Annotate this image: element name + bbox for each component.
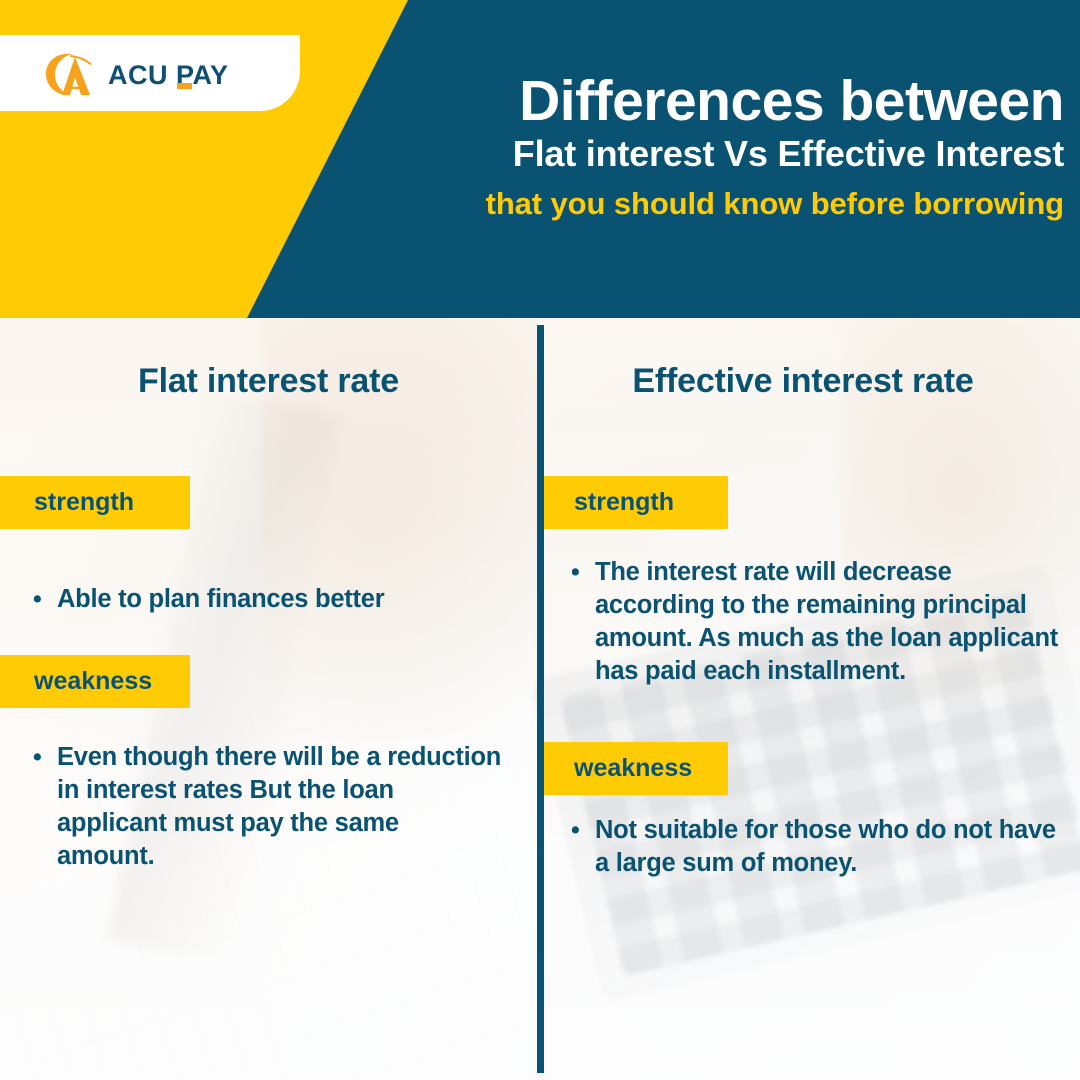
brand-name: ACU PAY <box>108 62 229 89</box>
acu-pay-monogram-icon <box>42 49 94 99</box>
column-title-flat: Flat interest rate <box>0 362 537 401</box>
bullets-strength-flat: • Able to plan finances better <box>33 583 503 616</box>
brand-name-pay: PAY <box>176 60 229 90</box>
infographic-poster: ACU PAY Differences between Flat interes… <box>0 0 1080 1080</box>
bullet-dot-icon: • <box>33 583 53 616</box>
bullets-weakness-flat: • Even though there will be a reduction … <box>33 741 503 874</box>
label-weakness-effective-text: weakness <box>574 754 692 783</box>
label-strength-effective: strength <box>544 476 728 529</box>
list-item: • Not suitable for those who do not have… <box>571 814 1066 880</box>
list-item-text: Able to plan finances better <box>57 583 503 616</box>
bullet-dot-icon: • <box>571 814 591 847</box>
title-block: Differences between Flat interest Vs Eff… <box>372 72 1064 228</box>
bullet-dot-icon: • <box>33 741 53 774</box>
header-banner: ACU PAY Differences between Flat interes… <box>0 0 1080 318</box>
column-divider <box>537 325 544 1073</box>
bullet-dot-icon: • <box>571 556 591 589</box>
label-weakness-flat-text: weakness <box>34 667 152 696</box>
label-weakness-effective: weakness <box>544 742 728 795</box>
bullets-weakness-effective: • Not suitable for those who do not have… <box>571 814 1066 880</box>
label-strength-effective-text: strength <box>574 488 674 517</box>
column-flat-interest: Flat interest rate strength • Able to pl… <box>0 318 537 1080</box>
column-effective-interest: Effective interest rate strength • The i… <box>544 318 1080 1080</box>
list-item: • The interest rate will decrease accord… <box>571 556 1076 689</box>
column-title-effective: Effective interest rate <box>544 362 1080 401</box>
bullets-strength-effective: • The interest rate will decrease accord… <box>571 556 1076 689</box>
label-strength-flat-text: strength <box>34 488 134 517</box>
label-weakness-flat: weakness <box>0 655 190 708</box>
headline-primary: Differences between <box>372 72 1064 130</box>
list-item: • Able to plan finances better <box>33 583 503 616</box>
list-item-text: The interest rate will decrease accordin… <box>595 556 1076 689</box>
list-item-text: Not suitable for those who do not have a… <box>595 814 1066 880</box>
list-item-text: Even though there will be a reduction in… <box>57 741 503 874</box>
logo-card: ACU PAY <box>0 35 300 111</box>
brand-logo: ACU PAY <box>42 49 229 99</box>
list-item: • Even though there will be a reduction … <box>33 741 503 874</box>
headline-tagline: that you should know before borrowing <box>372 179 1064 229</box>
headline-secondary: Flat interest Vs Effective Interest <box>372 130 1064 179</box>
brand-name-acu: ACU <box>108 60 168 90</box>
label-strength-flat: strength <box>0 476 190 529</box>
